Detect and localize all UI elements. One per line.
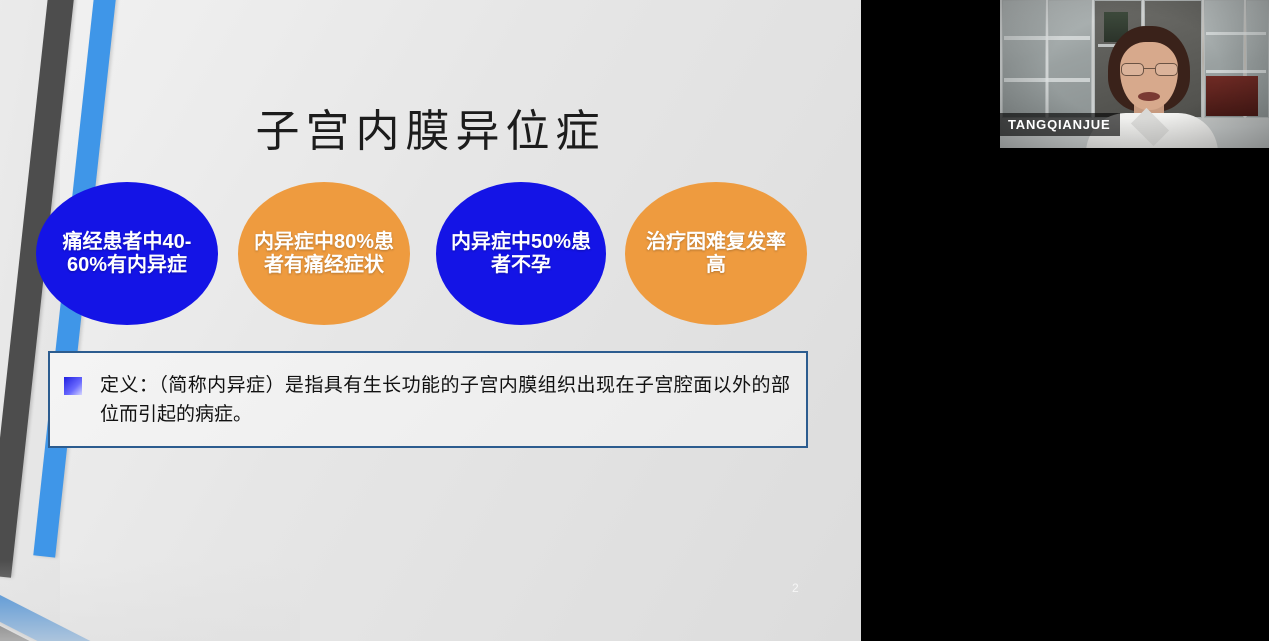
slide-decoration-blue-bar-bottom [0, 521, 283, 641]
glasses-lens-left [1121, 63, 1144, 76]
slide-decoration-gray-bar-bottom [0, 534, 239, 641]
statistic-bubble-1: 痛经患者中40-60%有内异症 [36, 182, 218, 325]
cabinet-shelf [1004, 36, 1090, 40]
definition-box: 定义：（简称内异症）是指具有生长功能的子宫内膜组织出现在子宫腔面以外的部位而引起… [48, 351, 808, 448]
statistic-bubble-4: 治疗困难复发率高 [625, 182, 807, 325]
slide-page-number: 2 [792, 581, 799, 595]
meeting-screen: 子宫内膜异位症 痛经患者中40-60%有内异症 内异症中80%患者有痛经症状 内… [0, 0, 1269, 641]
background-cabinet-door [1002, 0, 1046, 118]
presenter-glasses [1121, 63, 1178, 76]
cabinet-shelf [1206, 70, 1266, 73]
cabinet-shelf [1004, 78, 1090, 82]
glasses-lens-right [1155, 63, 1178, 76]
presenter-mouth [1138, 92, 1160, 101]
cabinet-shelf [1206, 32, 1266, 35]
bullet-square-icon [64, 377, 82, 395]
statistic-bubble-row: 痛经患者中40-60%有内异症 内异症中80%患者有痛经症状 内异症中50%患者… [36, 182, 826, 327]
background-cabinet-door [1048, 0, 1092, 118]
shared-screen-slide: 子宫内膜异位症 痛经患者中40-60%有内异症 内异症中80%患者有痛经症状 内… [0, 0, 861, 641]
slide-decoration-corner-fade [0, 560, 300, 641]
participant-name-badge: TANGQIANJUE [1000, 113, 1120, 136]
statistic-bubble-2: 内异症中80%患者有痛经症状 [238, 182, 410, 325]
slide-title: 子宫内膜异位症 [0, 95, 861, 159]
participant-video-tile[interactable]: TANGQIANJUE [1000, 0, 1269, 148]
cabinet-contents [1206, 76, 1258, 116]
glasses-bridge [1144, 68, 1155, 69]
definition-text: 定义：（简称内异症）是指具有生长功能的子宫内膜组织出现在子宫腔面以外的部位而引起… [100, 371, 790, 430]
statistic-bubble-3: 内异症中50%患者不孕 [436, 182, 606, 325]
